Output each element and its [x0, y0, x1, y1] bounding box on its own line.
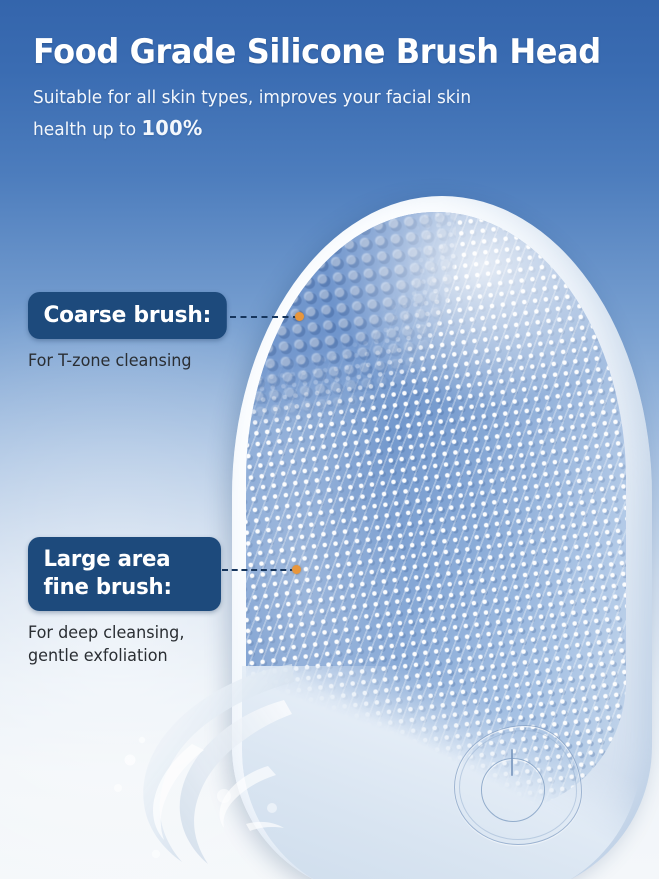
callout-description-fine: For deep cleansing, gentle exfoliation — [28, 622, 222, 666]
callout-description-coarse: For T-zone cleansing — [28, 350, 228, 372]
marker-dot-fine — [292, 565, 301, 574]
page-title: Food Grade Silicone Brush Head — [33, 34, 606, 70]
callout-badge-fine: Large area fine brush: — [28, 537, 221, 611]
callout-fine-brush: Large area fine brush: For deep cleansin… — [28, 537, 228, 667]
subtitle-highlight: 100% — [142, 116, 203, 140]
header-block: Food Grade Silicone Brush Head Suitable … — [33, 34, 633, 144]
power-button[interactable] — [454, 725, 582, 845]
page-subtitle: Suitable for all skin types, improves yo… — [33, 84, 479, 145]
power-icon — [481, 758, 545, 822]
product-feature-poster: Food Grade Silicone Brush Head Suitable … — [0, 0, 659, 879]
callout-coarse-brush: Coarse brush: For T-zone cleansing — [28, 292, 234, 372]
coarse-nub-field — [246, 212, 456, 436]
marker-dot-coarse — [295, 312, 304, 321]
leader-line-fine — [222, 569, 296, 573]
device-body-panel — [242, 666, 642, 879]
power-icon-bar — [511, 749, 513, 776]
callout-badge-coarse: Coarse brush: — [28, 292, 227, 339]
subtitle-text: Suitable for all skin types, improves yo… — [33, 88, 471, 140]
device-illustration — [232, 196, 652, 879]
coarse-brush-zone — [246, 212, 456, 436]
